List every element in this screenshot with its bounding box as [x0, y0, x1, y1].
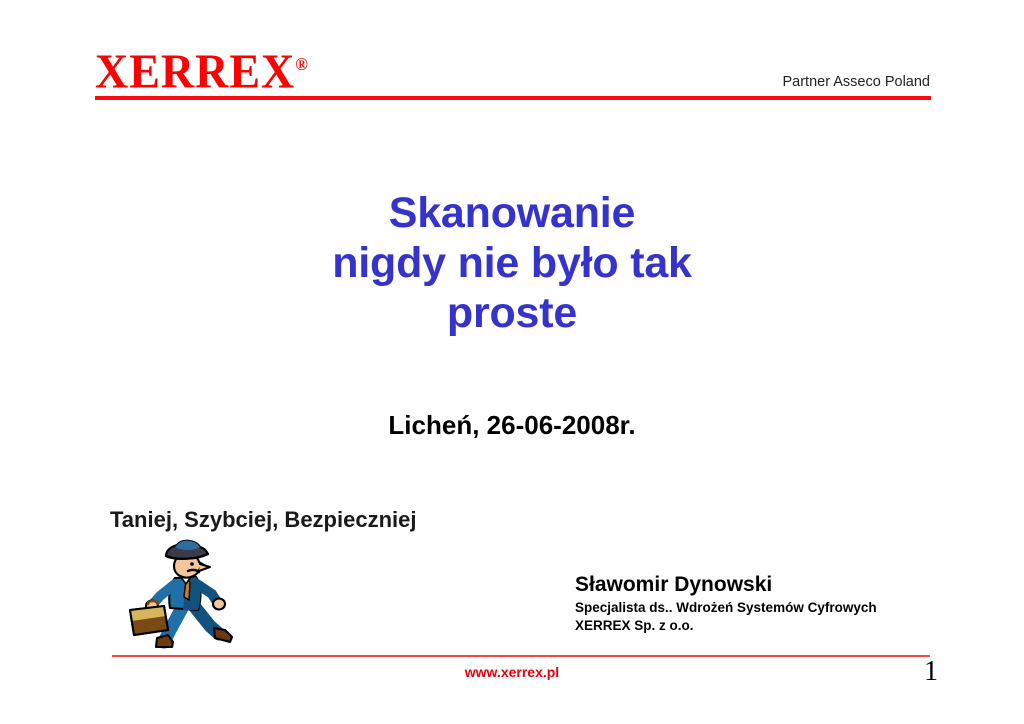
presentation-slide: XERREX® Partner Asseco Poland Skanowanie…	[0, 0, 1024, 724]
xerrex-logo-text: XERREX	[95, 44, 295, 98]
xerrex-logo: XERREX®	[95, 47, 309, 96]
header-divider	[95, 96, 931, 100]
title-line-3: proste	[0, 288, 1024, 338]
businessman-clipart	[120, 534, 254, 656]
presenter-info: Sławomir Dynowski Specjalista ds.. Wdroż…	[575, 572, 877, 635]
tagline: Taniej, Szybciej, Bezpieczniej	[110, 507, 416, 533]
slide-header: XERREX® Partner Asseco Poland	[95, 44, 930, 98]
event-date-location: Licheń, 26-06-2008r.	[0, 410, 1024, 441]
presenter-role: Specjalista ds.. Wdrożeń Systemów Cyfrow…	[575, 599, 877, 617]
page-number: 1	[924, 657, 938, 687]
slide-title: Skanowanie nigdy nie było tak proste	[0, 188, 1024, 338]
title-line-1: Skanowanie	[0, 188, 1024, 238]
presenter-company: XERREX Sp. z o.o.	[575, 617, 877, 635]
registered-trademark-icon: ®	[295, 54, 309, 74]
footer-website-link[interactable]: www.xerrex.pl	[0, 664, 1024, 680]
presenter-name: Sławomir Dynowski	[575, 572, 877, 597]
walking-businessman-icon	[120, 534, 254, 656]
title-line-2: nigdy nie było tak	[0, 238, 1024, 288]
partner-label: Partner Asseco Poland	[782, 74, 930, 90]
footer-divider	[112, 655, 930, 657]
